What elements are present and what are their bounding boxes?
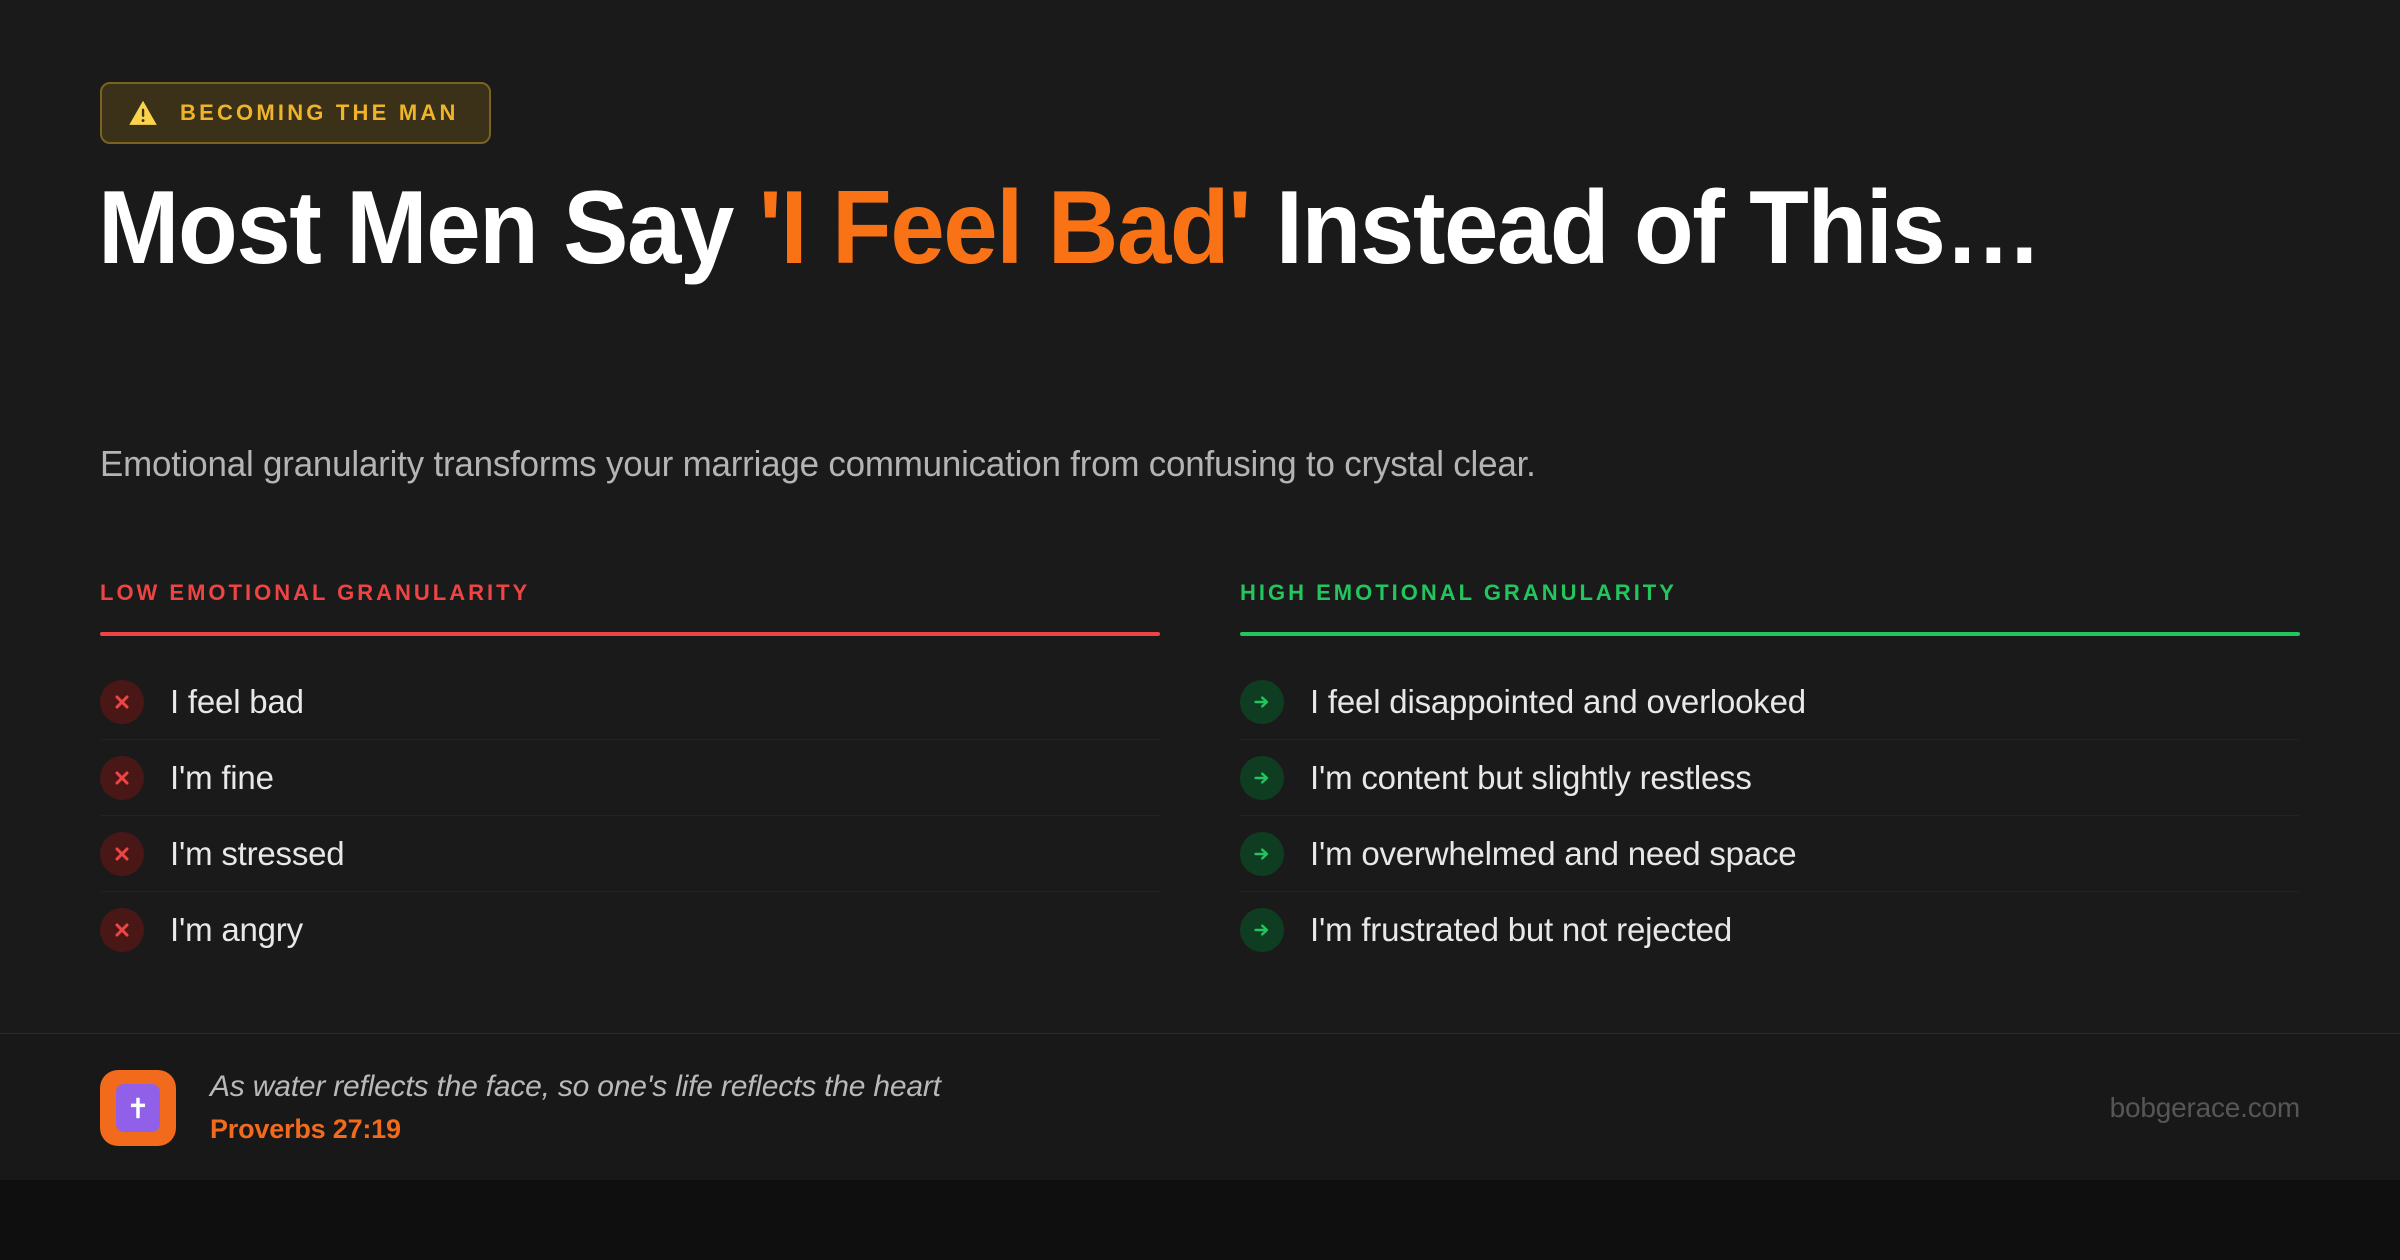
category-badge-label: BECOMING THE MAN bbox=[180, 100, 459, 126]
list-item-label: I feel disappointed and overlooked bbox=[1310, 683, 1806, 721]
list-item-label: I'm frustrated but not rejected bbox=[1310, 911, 1732, 949]
category-badge: BECOMING THE MAN bbox=[100, 82, 491, 144]
column-low-granularity: LOW EMOTIONAL GRANULARITY I feel bad bbox=[100, 580, 1160, 968]
column-high-title: HIGH EMOTIONAL GRANULARITY bbox=[1240, 580, 2300, 606]
comparison-columns: LOW EMOTIONAL GRANULARITY I feel bad bbox=[100, 580, 2300, 968]
list-item-label: I'm angry bbox=[170, 911, 303, 949]
verse-quote: As water reflects the face, so one's lif… bbox=[210, 1070, 941, 1104]
column-high-granularity: HIGH EMOTIONAL GRANULARITY I feel disapp… bbox=[1240, 580, 2300, 968]
column-high-items: I feel disappointed and overlooked I'm c… bbox=[1240, 664, 2300, 968]
site-url: bobgerace.com bbox=[2110, 1092, 2300, 1124]
list-item-label: I'm content but slightly restless bbox=[1310, 759, 1752, 797]
headline-accent: 'I Feel Bad' bbox=[759, 170, 1250, 286]
footer-content: As water reflects the face, so one's lif… bbox=[100, 1034, 2300, 1181]
list-item: I'm frustrated but not rejected bbox=[1240, 892, 2300, 968]
arrow-right-circle-icon bbox=[1240, 908, 1284, 952]
arrow-right-circle-icon bbox=[1240, 832, 1284, 876]
list-item: I'm fine bbox=[100, 740, 1160, 816]
arrow-right-circle-icon bbox=[1240, 756, 1284, 800]
list-item: I'm overwhelmed and need space bbox=[1240, 816, 2300, 892]
list-item: I'm content but slightly restless bbox=[1240, 740, 2300, 816]
headline-part-1: Most Men Say bbox=[98, 170, 759, 286]
list-item: I'm stressed bbox=[100, 816, 1160, 892]
cross-icon-backdrop bbox=[116, 1084, 160, 1132]
list-item-label: I feel bad bbox=[170, 683, 304, 721]
page-title: Most Men Say 'I Feel Bad' Instead of Thi… bbox=[98, 170, 2072, 286]
column-low-rule bbox=[100, 632, 1160, 636]
list-item: I feel disappointed and overlooked bbox=[1240, 664, 2300, 740]
list-item: I'm angry bbox=[100, 892, 1160, 968]
warning-triangle-icon bbox=[128, 99, 158, 127]
x-circle-icon bbox=[100, 908, 144, 952]
column-low-items: I feel bad I'm fine bbox=[100, 664, 1160, 968]
column-high-rule bbox=[1240, 632, 2300, 636]
column-low-title: LOW EMOTIONAL GRANULARITY bbox=[100, 580, 1160, 606]
list-item-label: I'm fine bbox=[170, 759, 274, 797]
x-circle-icon bbox=[100, 756, 144, 800]
list-item: I feel bad bbox=[100, 664, 1160, 740]
slide-root: BECOMING THE MAN Most Men Say 'I Feel Ba… bbox=[0, 0, 2400, 1260]
x-circle-icon bbox=[100, 680, 144, 724]
verse-reference: Proverbs 27:19 bbox=[210, 1114, 941, 1145]
arrow-right-circle-icon bbox=[1240, 680, 1284, 724]
footer-bar: As water reflects the face, so one's lif… bbox=[0, 1033, 2400, 1180]
x-circle-icon bbox=[100, 832, 144, 876]
verse-block: As water reflects the face, so one's lif… bbox=[210, 1070, 941, 1145]
page-subtitle: Emotional granularity transforms your ma… bbox=[100, 443, 1536, 485]
list-item-label: I'm overwhelmed and need space bbox=[1310, 835, 1796, 873]
list-item-label: I'm stressed bbox=[170, 835, 344, 873]
cross-icon bbox=[100, 1070, 176, 1146]
headline-part-2: Instead of This… bbox=[1250, 170, 2041, 286]
